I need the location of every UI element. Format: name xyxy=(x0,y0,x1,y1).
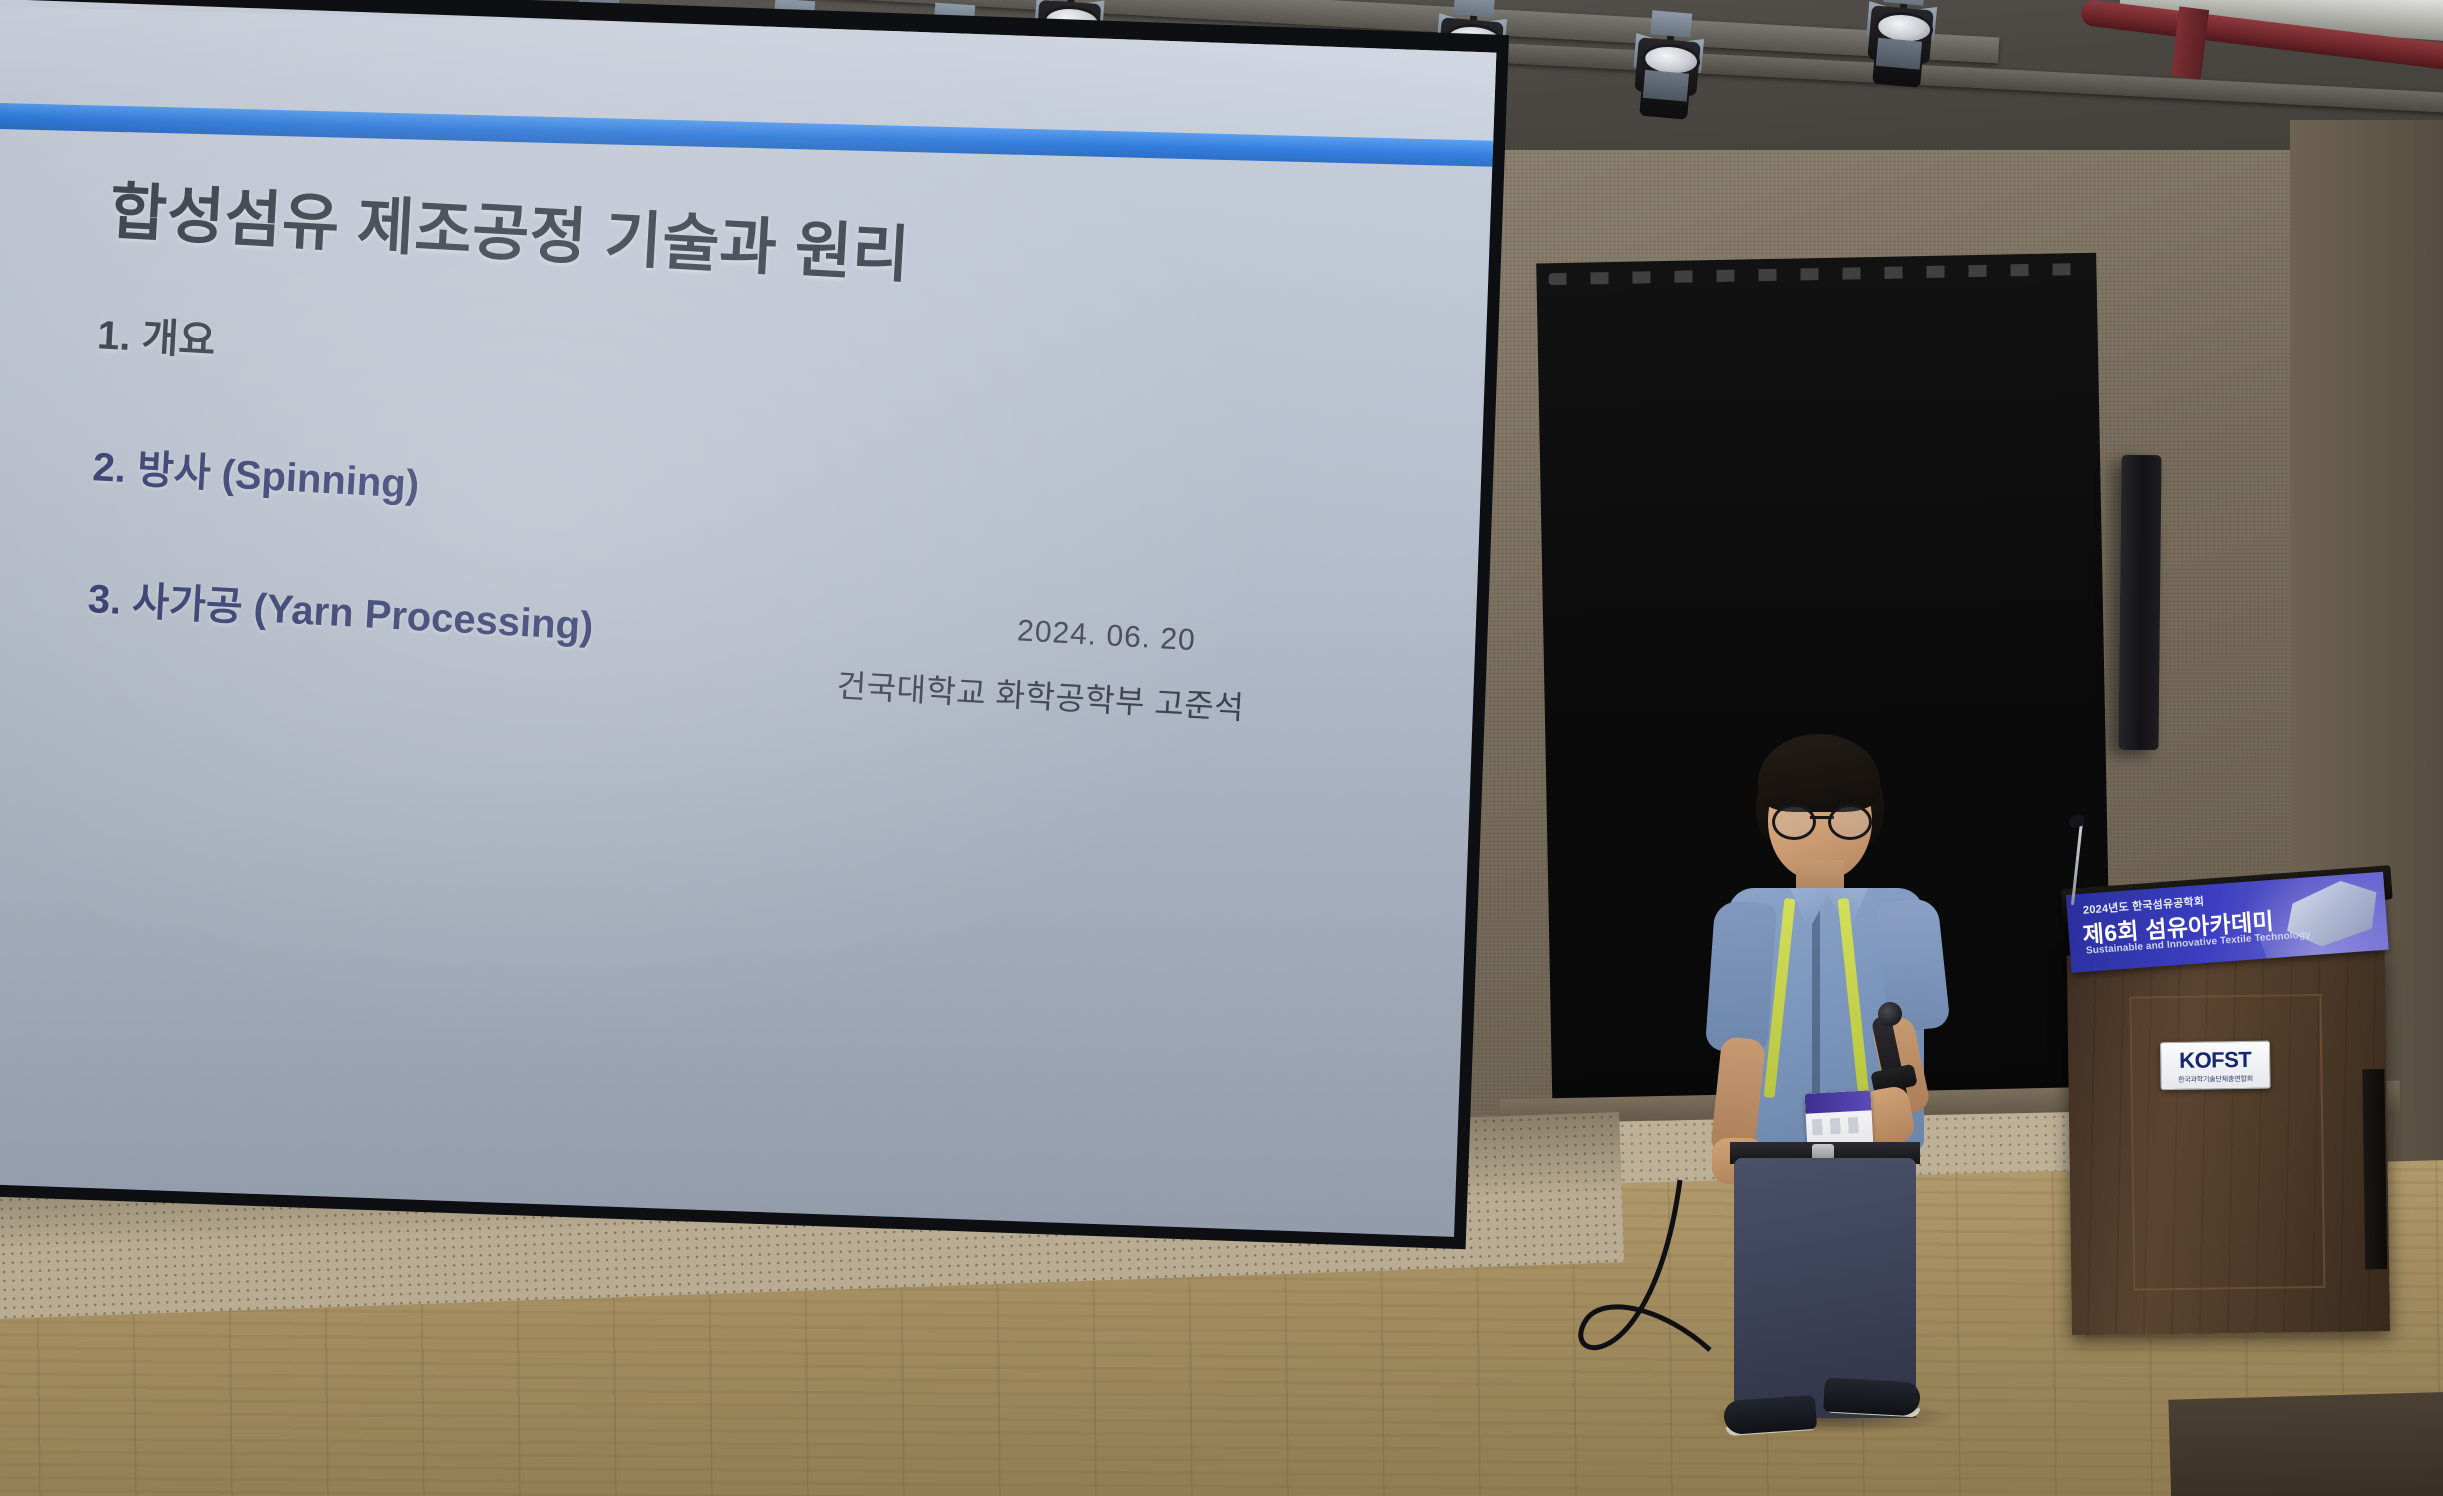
wall-speaker-icon xyxy=(2118,455,2161,750)
kofst-subtext: 한국과학기술단체총연합회 xyxy=(2178,1073,2253,1084)
name-badge xyxy=(1805,1090,1874,1149)
podium-inset-panel xyxy=(2129,994,2325,1291)
curtain-grommets xyxy=(1548,263,2084,285)
projection-screen: 합성섬유 제조공정 기술과 원리 1. 개요 2. 방사 (Spinning) … xyxy=(0,0,1529,1265)
sleeve-left xyxy=(1705,900,1777,1054)
trousers xyxy=(1734,1158,1916,1418)
hair xyxy=(1758,734,1880,812)
projected-slide: 합성섬유 제조공정 기술과 원리 1. 개요 2. 방사 (Spinning) … xyxy=(0,0,1496,1237)
podium-side-shadow xyxy=(2362,1069,2387,1269)
slide-title: 합성섬유 제조공정 기술과 원리 xyxy=(108,161,913,295)
podium-body: KOFST 한국과학기술단체총연합회 xyxy=(2067,951,2390,1335)
shoe-right xyxy=(1823,1378,1921,1417)
presenter xyxy=(1700,730,2000,1430)
shoe-left xyxy=(1723,1395,1817,1435)
podium: KOFST 한국과학기술단체총연합회 2024년도 한국섬유공학회 제6회 섬유… xyxy=(2072,903,2418,1328)
floor-shadow-area xyxy=(2168,1390,2443,1496)
slide-content: 합성섬유 제조공정 기술과 원리 1. 개요 2. 방사 (Spinning) … xyxy=(0,0,1496,1237)
slide-agenda-item-2: 2. 방사 (Spinning) xyxy=(91,434,1193,552)
kofst-mark: KOFST xyxy=(2179,1046,2251,1073)
kofst-logo-plate: KOFST 한국과학기술단체총연합회 xyxy=(2160,1041,2271,1091)
slide-agenda-item-1: 1. 개요 xyxy=(96,302,1198,420)
glasses-icon xyxy=(1772,804,1872,834)
conference-hall-photo: 합성섬유 제조공정 기술과 원리 1. 개요 2. 방사 (Spinning) … xyxy=(0,0,2443,1496)
